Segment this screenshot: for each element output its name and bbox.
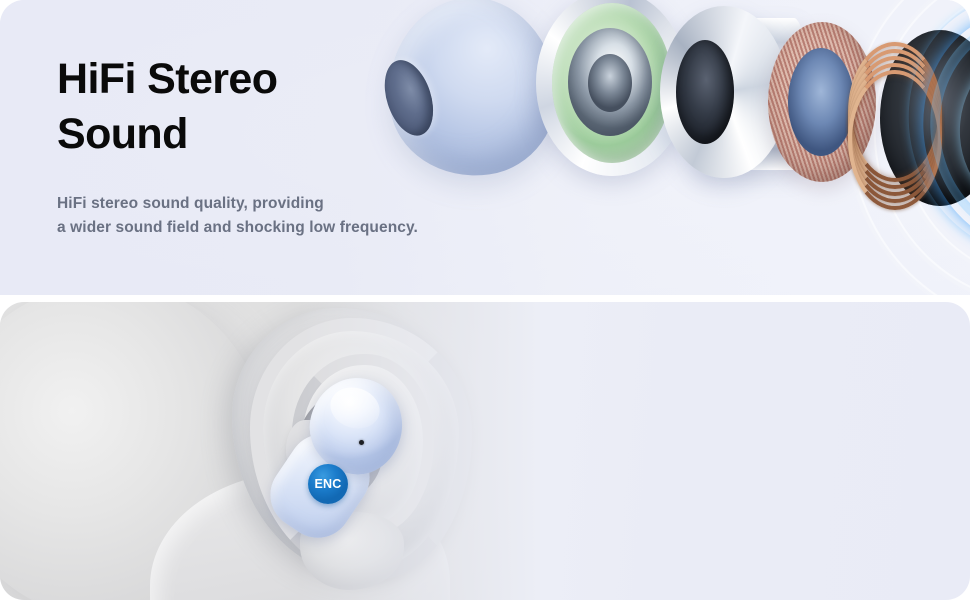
product-feature-banner: HiFi Stereo Sound HiFi stereo sound qual… [0, 0, 970, 600]
hifi-heading-line-2: Sound [57, 107, 527, 162]
enc-badge-label: ENC [315, 477, 342, 491]
diaphragm-core-icon [588, 54, 632, 112]
hifi-heading: HiFi Stereo Sound [57, 52, 527, 162]
panel-hifi-stereo-sound: HiFi Stereo Sound HiFi stereo sound qual… [0, 0, 970, 295]
hifi-subtitle: HiFi stereo sound quality, providing a w… [57, 192, 527, 240]
hifi-subtitle-line-1: HiFi stereo sound quality, providing [57, 192, 527, 216]
coil-former-bore-icon [788, 48, 854, 156]
ear-photo-region [0, 302, 540, 600]
magnet-bore-icon [676, 40, 734, 144]
hifi-subtitle-line-2: a wider sound field and shocking low fre… [57, 216, 527, 240]
blue-sound-wave-glow-icon [916, 0, 970, 252]
microphone-dot-icon [359, 440, 364, 445]
earbud-in-ear-illustration: ENC [276, 378, 406, 538]
panel-enc: ENC Effectively attenuate environment no… [0, 302, 970, 600]
hifi-copy-block: HiFi Stereo Sound HiFi stereo sound qual… [57, 52, 527, 240]
hifi-heading-line-1: HiFi Stereo [57, 55, 277, 103]
enc-badge: ENC [308, 464, 348, 504]
